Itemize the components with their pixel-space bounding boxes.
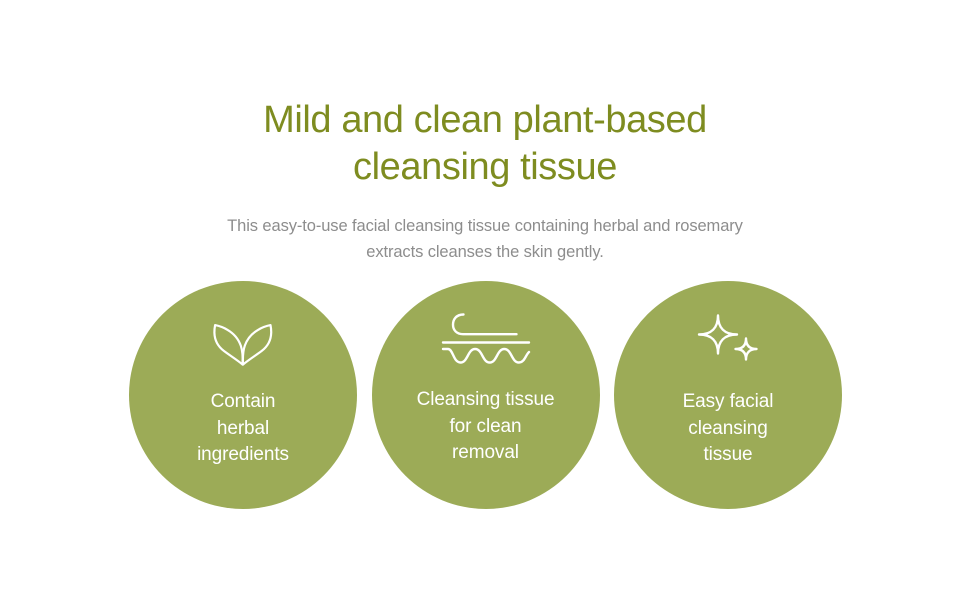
feature-circle-easy-facial-cleansing-tissue: Easy facial cleansing tissue	[614, 281, 842, 509]
feature-circle-row: Contain herbal ingredients Cleansing tis…	[129, 281, 842, 509]
page-subtitle: This easy-to-use facial cleansing tissue…	[0, 213, 970, 265]
sparkles-icon	[691, 305, 765, 377]
feature-circle-contain-herbal-ingredients: Contain herbal ingredients	[129, 281, 357, 509]
two-leaves-icon	[206, 307, 280, 379]
feature-circle-label: Contain herbal ingredients	[143, 389, 343, 469]
page-title: Mild and clean plant-based cleansing tis…	[0, 97, 970, 191]
feature-circle-cleansing-tissue-for-clean-removal: Cleansing tissue for clean removal	[372, 281, 600, 509]
product-feature-banner: Mild and clean plant-based cleansing tis…	[0, 0, 970, 600]
feature-circle-label: Cleansing tissue for clean removal	[386, 387, 586, 467]
feature-circle-label: Easy facial cleansing tissue	[628, 389, 828, 469]
tissue-sheet-icon	[440, 303, 532, 375]
